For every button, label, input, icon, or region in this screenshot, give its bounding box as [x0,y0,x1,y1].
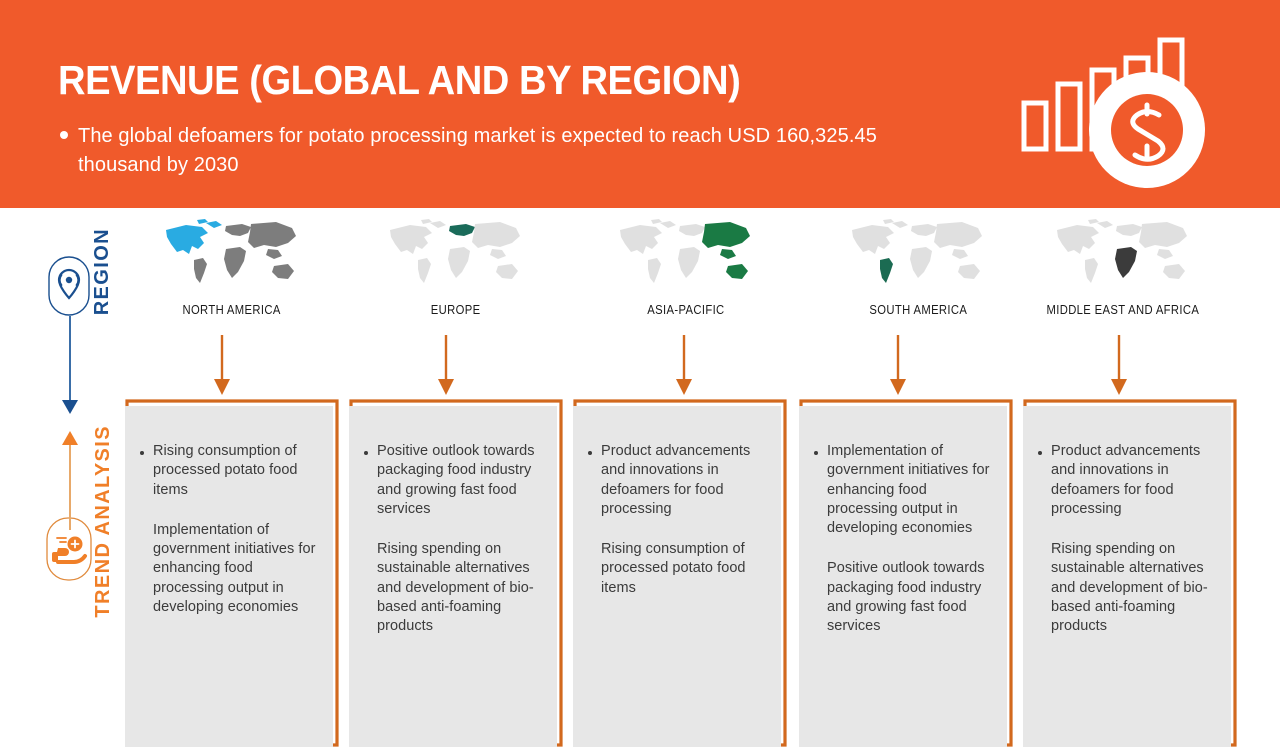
world-map-middle-east-africa-icon [1047,212,1199,292]
bullet-dot-icon [1038,451,1042,455]
arrow-down-icon [56,316,84,416]
connector-arrow-down-icon [211,335,233,397]
region-label: MIDDLE EAST AND AFRICA [1047,303,1200,317]
trend-card: Positive outlook towards packaging food … [345,397,567,749]
trend-list-item: Rising consumption of processed potato f… [140,442,319,500]
region-column-europe: EUROPE [343,212,569,317]
trend-list-item: Product advancements and innovations in … [588,442,767,519]
trend-list-item: Positive outlook towards packaging food … [364,442,543,519]
trend-list-item: Positive outlook towards packaging food … [814,559,993,636]
region-column-south-america: SOUTH AMERICA [805,212,1031,317]
trend-card-body: Product advancements and innovations in … [573,406,781,747]
trend-card-content: Product advancements and innovations in … [573,406,781,598]
trend-list-item-text: Implementation of government initiatives… [827,442,993,538]
trend-list-item-text: Product advancements and innovations in … [1051,442,1217,519]
trend-card-content: Implementation of government initiatives… [799,406,1007,637]
connector-arrow-down-icon [887,335,909,397]
trend-list-item-text: Positive outlook towards packaging food … [377,442,543,519]
trend-list-item: Implementation of government initiatives… [814,442,993,538]
region-column-asia-pacific: ASIA-PACIFIC [573,212,799,317]
bullet-dot-icon [814,451,818,455]
region-column-middle-east-and-africa: MIDDLE EAST AND AFRICA [1010,212,1236,317]
trend-card-content: Rising consumption of processed potato f… [125,406,333,617]
trend-list-item: Rising spending on sustainable alternati… [364,540,543,636]
trend-list-item-text: Rising spending on sustainable alternati… [377,540,543,636]
trend-list-item-text: Product advancements and innovations in … [601,442,767,519]
trend-list-item-text: Rising consumption of processed potato f… [153,442,319,500]
trend-card: Implementation of government initiatives… [795,397,1017,749]
region-column-north-america: NORTH AMERICA [119,212,345,317]
connector-arrow-down-icon [435,335,457,397]
world-map-europe-icon [380,212,532,292]
bullet-dot-icon [60,131,68,139]
trend-list-item: Implementation of government initiatives… [140,521,319,617]
bullet-dot-icon [588,451,592,455]
header-bullet: The global defoamers for potato processi… [60,122,930,180]
trend-card-body: Implementation of government initiatives… [799,406,1007,747]
trend-card-body: Positive outlook towards packaging food … [349,406,557,747]
trend-list-item: Product advancements and innovations in … [1038,442,1217,519]
infographic-root: REVENUE (GLOBAL AND BY REGION) The globa… [0,0,1280,749]
trend-card: Product advancements and innovations in … [569,397,791,749]
header-bullet-text: The global defoamers for potato processi… [78,122,930,180]
world-map-south-america-icon [842,212,994,292]
trend-list-item-text: Rising spending on sustainable alternati… [1051,540,1217,636]
connector-arrow-down-icon [1108,335,1130,397]
arrow-up-icon [56,428,84,530]
region-label: EUROPE [431,303,481,317]
header-banner: REVENUE (GLOBAL AND BY REGION) The globa… [0,0,1280,208]
world-map-north-america-icon [156,212,308,292]
trend-card-body: Product advancements and innovations in … [1023,406,1231,747]
trend-list-item-text: Implementation of government initiatives… [153,521,319,617]
region-label: ASIA-PACIFIC [647,303,724,317]
trend-card: Product advancements and innovations in … [1019,397,1241,749]
region-label: SOUTH AMERICA [869,303,967,317]
region-label: NORTH AMERICA [183,303,281,317]
bar-chart-dollar-icon [1000,20,1230,198]
bullet-dot-icon [140,451,144,455]
trend-card-content: Product advancements and innovations in … [1023,406,1231,637]
region-row: NORTH AMERICAEUROPEASIA-PACIFICSOUTH AME… [0,212,1280,327]
trend-card-content: Positive outlook towards packaging food … [349,406,557,637]
rail-label-trend-analysis: TREND ANALYSIS [92,425,115,618]
connector-arrow-down-icon [673,335,695,397]
page-title: REVENUE (GLOBAL AND BY REGION) [58,57,740,104]
trend-list-item-text: Rising consumption of processed potato f… [601,540,767,598]
trend-list-item: Rising spending on sustainable alternati… [1038,540,1217,636]
trend-list-item-text: Positive outlook towards packaging food … [827,559,993,636]
trend-list-item: Rising consumption of processed potato f… [588,540,767,598]
bullet-dot-icon [364,451,368,455]
trend-card-body: Rising consumption of processed potato f… [125,406,333,747]
trend-card: Rising consumption of processed potato f… [121,397,343,749]
world-map-asia-pacific-icon [610,212,762,292]
